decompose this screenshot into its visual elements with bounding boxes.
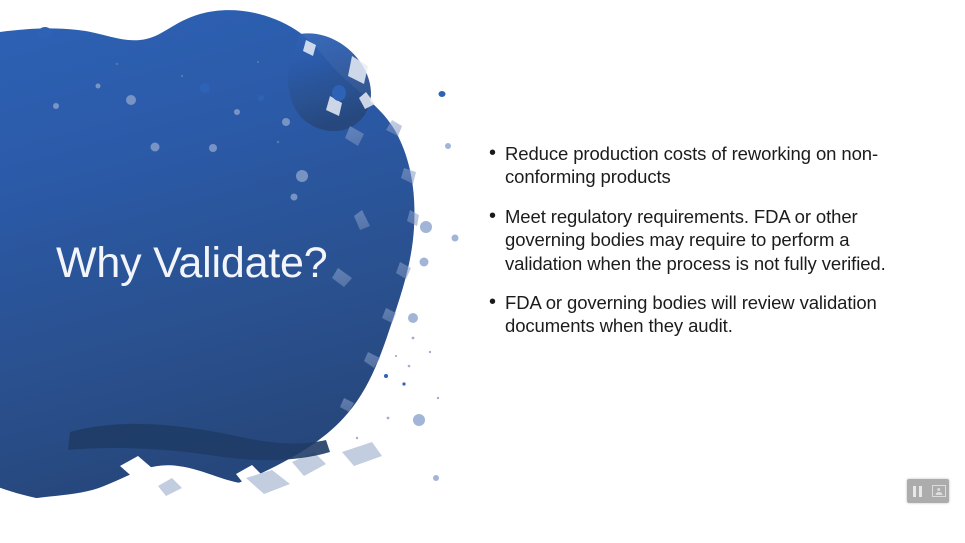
- bullet-icon: •: [487, 291, 505, 314]
- list-item: • Reduce production costs of reworking o…: [487, 142, 887, 189]
- bullet-list: • Reduce production costs of reworking o…: [487, 142, 887, 338]
- presenter-icon: [932, 485, 946, 497]
- title-block: Why Validate?: [56, 238, 386, 288]
- list-item: • FDA or governing bodies will review va…: [487, 291, 887, 338]
- pause-icon: [913, 486, 922, 497]
- list-item-text: Reduce production costs of reworking on …: [505, 142, 887, 189]
- list-item-text: Meet regulatory requirements. FDA or oth…: [505, 205, 887, 275]
- bullet-icon: •: [487, 205, 505, 228]
- pause-button[interactable]: [909, 483, 926, 500]
- page-title: Why Validate?: [56, 238, 386, 288]
- list-item: • Meet regulatory requirements. FDA or o…: [487, 205, 887, 275]
- player-controls-toolbar[interactable]: [907, 479, 949, 503]
- list-item-text: FDA or governing bodies will review vali…: [505, 291, 887, 338]
- presentation-slide: Why Validate? • Reduce production costs …: [0, 0, 965, 543]
- bullet-icon: •: [487, 142, 505, 165]
- presenter-view-button[interactable]: [930, 483, 947, 500]
